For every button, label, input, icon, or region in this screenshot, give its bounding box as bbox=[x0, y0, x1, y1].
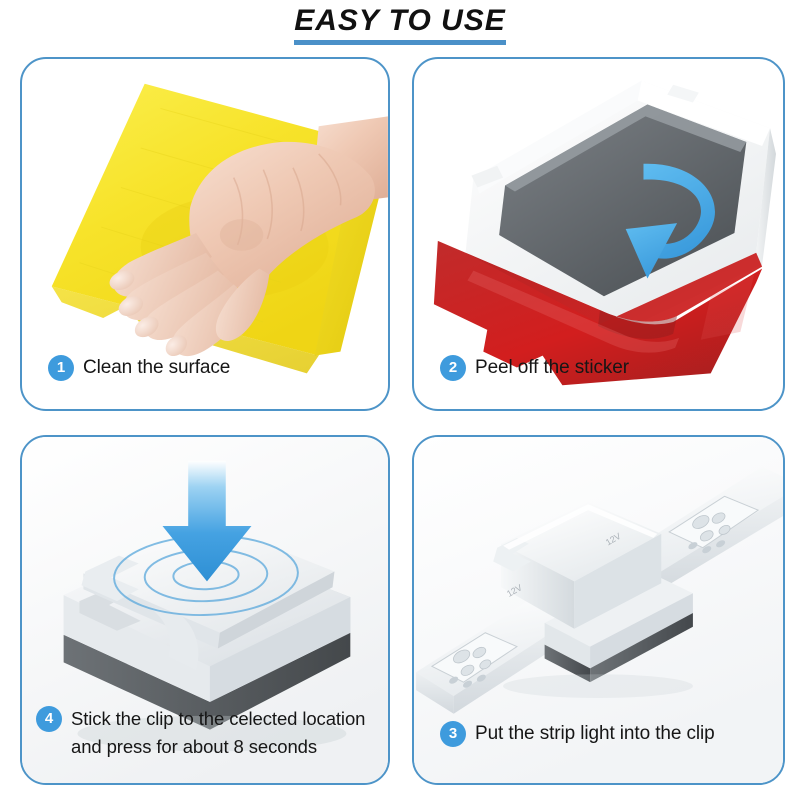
step-caption-3: 3 Put the strip light into the clip bbox=[414, 720, 783, 747]
easy-to-use-instruction-graphic: EASY TO USE bbox=[0, 0, 800, 800]
step-caption-text-4-line2: and press for about 8 seconds bbox=[71, 736, 317, 757]
step-caption-text-4: Stick the clip to the celected location … bbox=[71, 705, 365, 761]
step-number-badge-2: 2 bbox=[440, 355, 466, 381]
step-caption-4: 4 Stick the clip to the celected locatio… bbox=[22, 705, 388, 761]
step-number-badge-1: 1 bbox=[48, 355, 74, 381]
step-panel-4: 4 Stick the clip to the celected locatio… bbox=[20, 435, 390, 785]
title-underline bbox=[294, 40, 506, 45]
step-number-badge-3: 3 bbox=[440, 721, 466, 747]
step-caption-text-4-line1: Stick the clip to the celected location bbox=[71, 708, 365, 729]
step-panel-1: 1 Clean the surface bbox=[20, 57, 390, 411]
step-caption-text-2: Peel off the sticker bbox=[475, 354, 629, 381]
page-title-block: EASY TO USE bbox=[0, 4, 800, 45]
step-caption-1: 1 Clean the surface bbox=[22, 354, 388, 381]
step-caption-text-3: Put the strip light into the clip bbox=[475, 720, 715, 747]
step-caption-2: 2 Peel off the sticker bbox=[414, 354, 783, 381]
page-title: EASY TO USE bbox=[294, 4, 506, 38]
step-caption-text-1: Clean the surface bbox=[83, 354, 230, 381]
step-number-badge-4: 4 bbox=[36, 706, 62, 732]
step-panel-3: 12V 12V 3 Put the strip light into the c… bbox=[412, 435, 785, 785]
step-panel-2: 2 Peel off the sticker bbox=[412, 57, 785, 411]
